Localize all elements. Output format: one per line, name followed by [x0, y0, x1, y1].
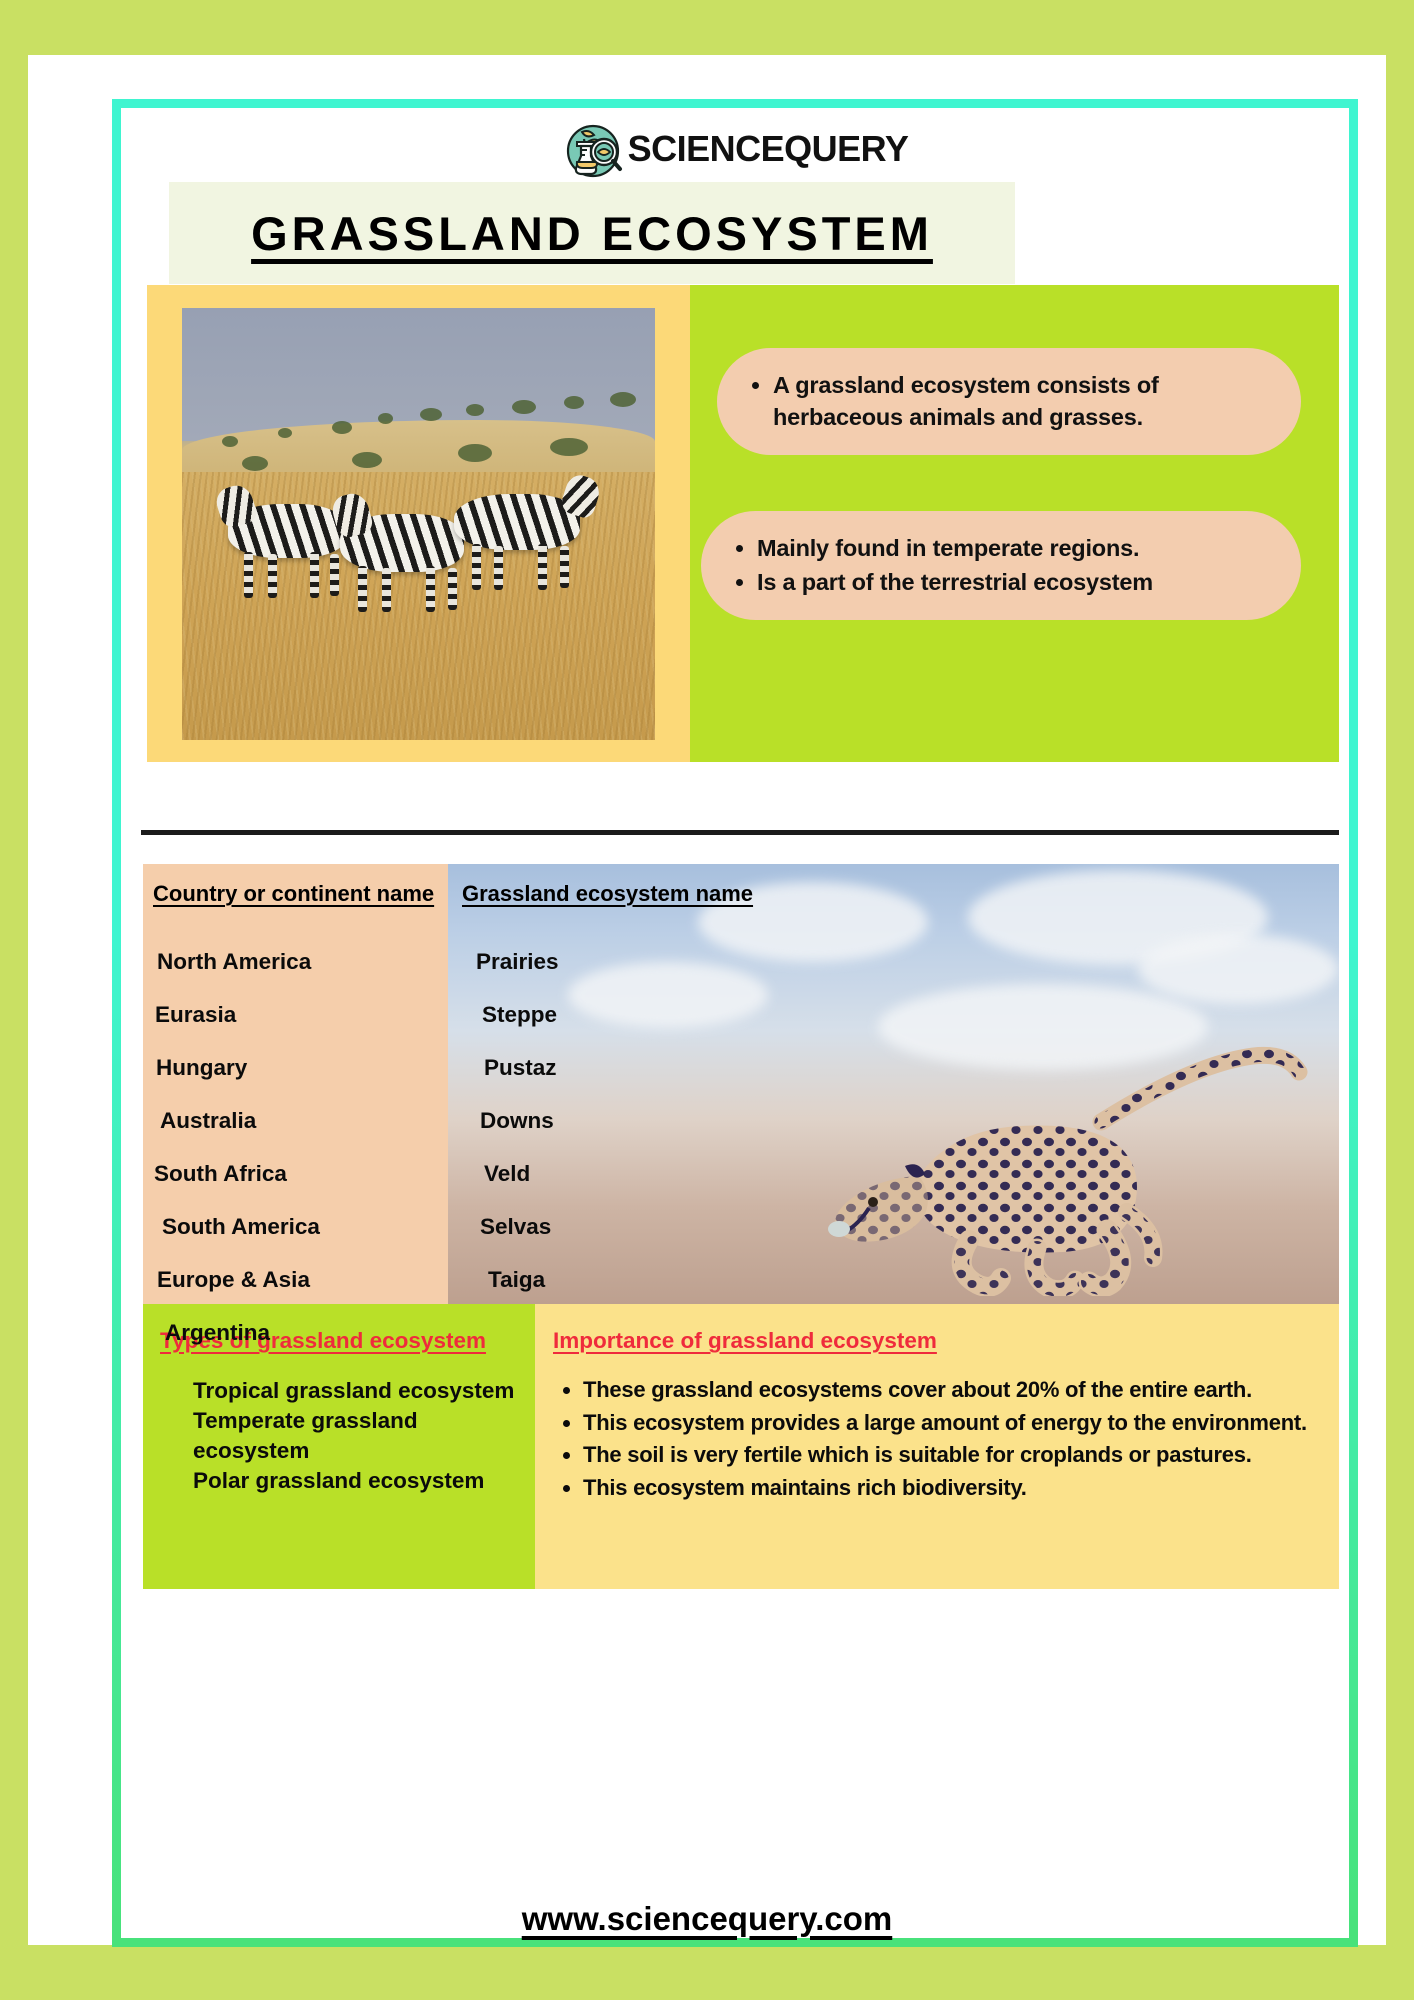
list-item: Tropical grassland ecosystem [193, 1376, 535, 1406]
table-row: Hungary [156, 1055, 448, 1081]
fact-item: Mainly found in temperate regions. [757, 533, 1275, 565]
brand-name: SCIENCEQUERY [628, 128, 909, 170]
fact-card: Mainly found in temperate regions. Is a … [701, 511, 1301, 620]
table-row: Europe & Asia [157, 1267, 448, 1293]
table-header-ecosystem: Grassland ecosystem name [462, 881, 1339, 907]
grassland-names-table: Country or continent name North America … [143, 864, 1339, 1304]
table-column-ecosystem: Grassland ecosystem name Prairies Steppe… [448, 864, 1339, 1304]
brand-logo: SCIENCEQUERY [121, 118, 1349, 180]
fact-card: A grassland ecosystem consists of herbac… [717, 348, 1301, 455]
importance-section: Importance of grassland ecosystem These … [535, 1304, 1339, 1589]
poster-frame: SCIENCEQUERY GRASSLAND ECOSYSTEM [112, 99, 1358, 1947]
table-row: Steppe [482, 1002, 1339, 1028]
zebras-in-savanna-grassland-photo [182, 308, 655, 740]
table-row: Veld [484, 1161, 1339, 1187]
page-title: GRASSLAND ECOSYSTEM [251, 206, 933, 261]
table-row: Downs [480, 1108, 1339, 1134]
list-item: Temperate grassland ecosystem [193, 1406, 535, 1466]
types-section: Types of grassland ecosystem Tropical gr… [143, 1304, 535, 1589]
fact-item: Is a part of the terrestrial ecosystem [757, 567, 1275, 599]
footer: www.sciencequery.com [0, 1900, 1414, 1938]
table-row: Taiga [488, 1267, 1339, 1293]
table-row: North America [157, 949, 448, 975]
list-item: The soil is very fertile which is suitab… [583, 1441, 1317, 1470]
table-row: South Africa [154, 1161, 448, 1187]
table-row: Eurasia [155, 1002, 448, 1028]
section-divider [141, 830, 1339, 835]
hero-facts-panel: A grassland ecosystem consists of herbac… [690, 285, 1339, 762]
table-row: Selvas [480, 1214, 1339, 1240]
hero-section: A grassland ecosystem consists of herbac… [147, 285, 1339, 762]
table-column-country: Country or continent name North America … [143, 864, 448, 1304]
hero-photo-frame [147, 285, 690, 762]
table-row: Prairies [476, 949, 1339, 975]
fact-item: A grassland ecosystem consists of herbac… [773, 370, 1275, 433]
list-item: This ecosystem provides a large amount o… [583, 1409, 1317, 1438]
table-header-country: Country or continent name [153, 881, 448, 907]
importance-heading: Importance of grassland ecosystem [553, 1328, 1317, 1354]
list-item: This ecosystem maintains rich biodiversi… [583, 1474, 1317, 1503]
poster-content: SCIENCEQUERY GRASSLAND ECOSYSTEM [121, 108, 1349, 1938]
table-row: Pustaz [484, 1055, 1339, 1081]
table-row: South America [162, 1214, 448, 1240]
bottom-sections: Types of grassland ecosystem Tropical gr… [143, 1304, 1339, 1589]
title-banner: GRASSLAND ECOSYSTEM [169, 182, 1015, 284]
flask-magnifier-leaf-icon [562, 118, 624, 180]
list-item: These grassland ecosystems cover about 2… [583, 1376, 1317, 1405]
list-item: Polar grassland ecosystem [193, 1466, 535, 1496]
table-row: Australia [160, 1108, 448, 1134]
website-link[interactable]: www.sciencequery.com [522, 1900, 892, 1937]
page-canvas: SCIENCEQUERY GRASSLAND ECOSYSTEM [28, 55, 1386, 1945]
table-row: Argentina [165, 1320, 448, 1346]
